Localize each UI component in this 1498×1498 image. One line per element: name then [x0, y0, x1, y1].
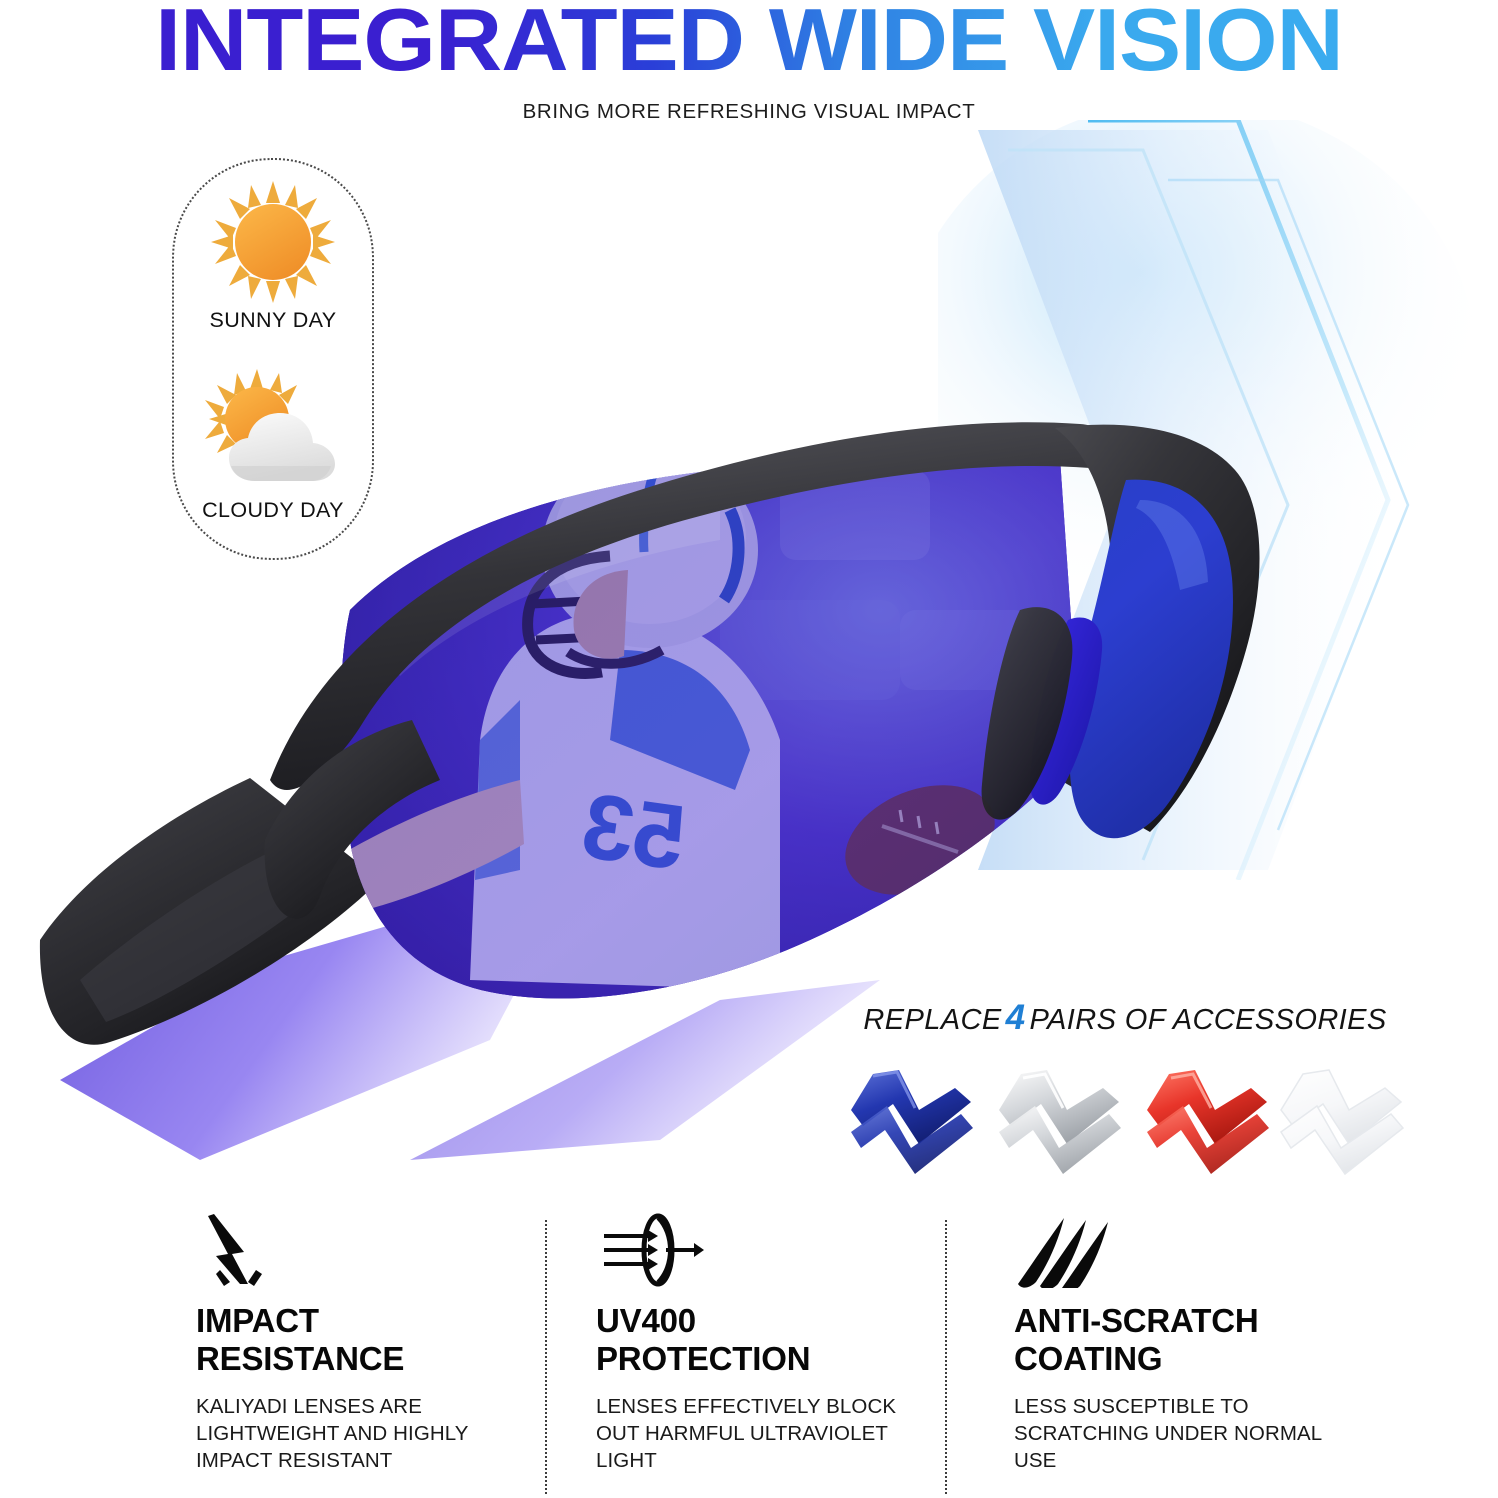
feature-body: LESS SUSCEPTIBLE TO SCRATCHING UNDER NOR…	[1014, 1393, 1364, 1475]
features-section: IMPACT RESISTANCE KALIYADI LENSES ARE LI…	[0, 1212, 1498, 1498]
sun-icon	[174, 178, 372, 306]
feature-title: ANTI-SCRATCH COATING	[1014, 1302, 1364, 1379]
feature-title: UV400 PROTECTION	[596, 1302, 926, 1379]
accessories-count: 4	[1002, 998, 1030, 1037]
accessory-pairs-row	[845, 1052, 1405, 1192]
feature-uv400-protection: UV400 PROTECTION LENSES EFFECTIVELY BLOC…	[596, 1212, 926, 1498]
accessories-section: REPLACE4PAIRS OF ACCESSORIES	[845, 998, 1405, 1192]
weather-item-cloudy: CLOUDY DAY	[174, 368, 372, 523]
feature-body: KALIYADI LENSES ARE LIGHTWEIGHT AND HIGH…	[196, 1393, 526, 1475]
feature-divider-1	[545, 1220, 547, 1494]
nose-pad-pair-red	[1141, 1052, 1281, 1192]
product-marketing-image: INTEGRATED WIDE VISION BRING MORE REFRES…	[0, 0, 1498, 1498]
accessories-heading-suffix: PAIRS OF ACCESSORIES	[1029, 1004, 1386, 1036]
feature-anti-scratch-coating: ANTI-SCRATCH COATING LESS SUSCEPTIBLE TO…	[1014, 1212, 1364, 1498]
feature-impact-resistance: IMPACT RESISTANCE KALIYADI LENSES ARE LI…	[196, 1212, 526, 1498]
feature-title: IMPACT RESISTANCE	[196, 1302, 526, 1379]
feature-body: LENSES EFFECTIVELY BLOCK OUT HARMFUL ULT…	[596, 1393, 926, 1475]
nose-pad-pair-white	[1275, 1052, 1415, 1192]
scratch-claw-marks-icon	[1014, 1212, 1364, 1288]
weather-label-cloudy: CLOUDY DAY	[174, 498, 372, 523]
weather-condition-panel: SUNNY DAY	[172, 158, 374, 560]
header: INTEGRATED WIDE VISION BRING MORE REFRES…	[0, 0, 1498, 140]
feature-divider-2	[945, 1220, 947, 1494]
lightning-bolt-icon	[196, 1212, 526, 1288]
weather-label-sunny: SUNNY DAY	[174, 308, 372, 333]
weather-item-sunny: SUNNY DAY	[174, 178, 372, 333]
page-subtitle: BRING MORE REFRESHING VISUAL IMPACT	[0, 100, 1498, 124]
sun-behind-cloud-icon	[174, 368, 372, 496]
accessories-heading-prefix: REPLACE	[863, 1004, 1001, 1036]
page-title: INTEGRATED WIDE VISION	[0, 0, 1498, 86]
uv-rays-lens-icon	[596, 1212, 926, 1288]
nose-pad-pair-blue	[845, 1052, 985, 1192]
accessories-heading: REPLACE4PAIRS OF ACCESSORIES	[845, 998, 1405, 1038]
nose-pad-pair-gray	[993, 1052, 1133, 1192]
